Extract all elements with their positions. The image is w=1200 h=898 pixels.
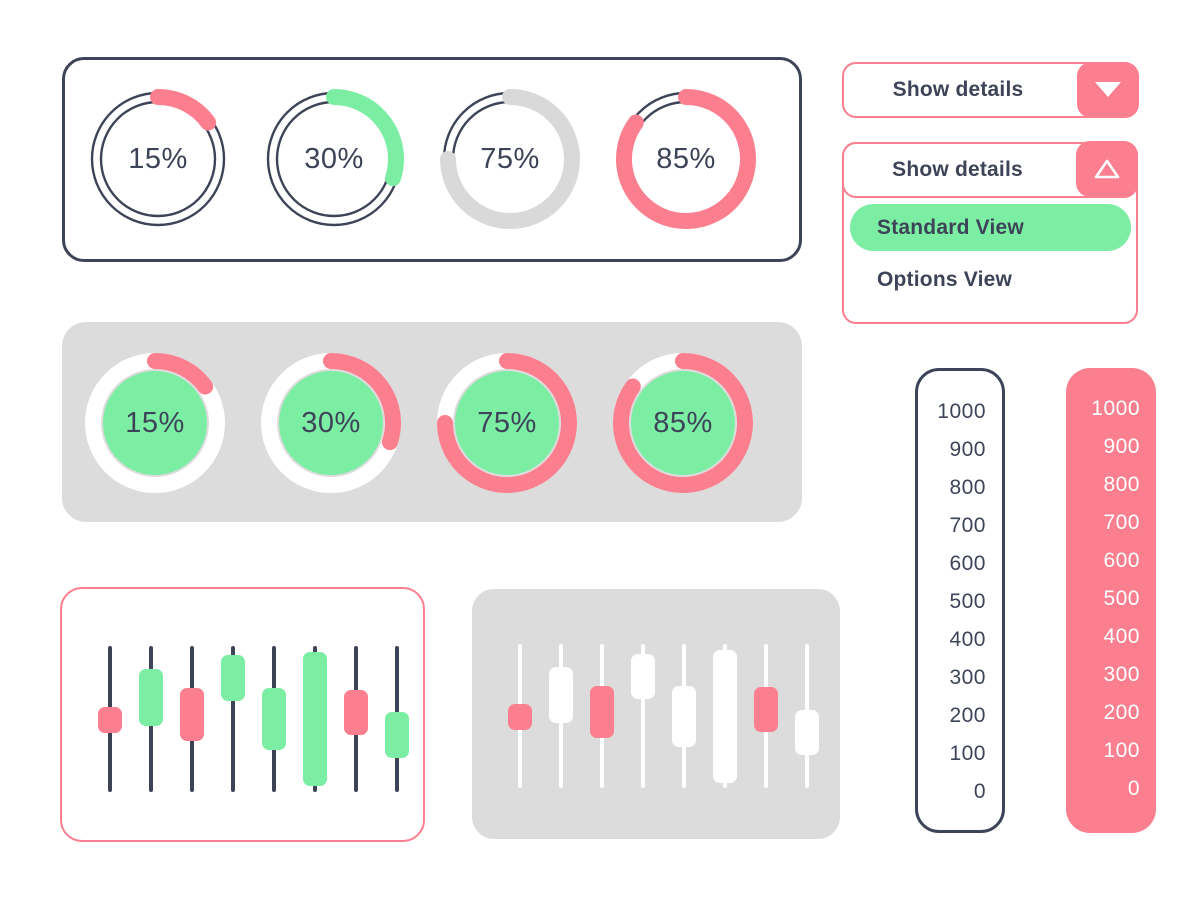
candle-body [795, 710, 819, 755]
candlestick-chart-outline [60, 587, 425, 842]
scale-tick-label: 300 [1066, 656, 1140, 694]
dropdown-show-details-collapsed[interactable]: Show details [842, 62, 1138, 118]
gauge-value-label: 85% [611, 84, 761, 234]
ring-gauge-panel-outline: 15% 30% 75% 85% [62, 57, 802, 262]
dropdown-label: Show details [844, 64, 1072, 116]
scale-tick-label: 500 [918, 583, 986, 621]
scale-tick-label: 400 [1066, 618, 1140, 656]
ring-gauge: 85% [611, 84, 761, 234]
scale-tick-list: 10009008007006005004003002001000 [918, 393, 986, 811]
scale-tick-label: 900 [1066, 428, 1140, 466]
dropdown-toggle-button[interactable] [1077, 62, 1139, 118]
scale-tick-label: 800 [918, 469, 986, 507]
scale-tick-label: 600 [1066, 542, 1140, 580]
gauge-value-label: 15% [83, 84, 233, 234]
ring-gauge: 30% [256, 348, 406, 498]
candle-body [590, 686, 614, 738]
ring-gauge: 85% [608, 348, 758, 498]
dropdown-option-standard-view[interactable]: Standard View [850, 204, 1131, 251]
ring-gauge: 75% [432, 348, 582, 498]
scale-tick-label: 200 [1066, 694, 1140, 732]
candle-body [631, 654, 655, 699]
dropdown-show-details-expanded[interactable]: Standard View Options View Show details [842, 142, 1138, 324]
gauge-value-label: 15% [80, 348, 230, 498]
scale-tick-label: 100 [918, 735, 986, 773]
scale-tick-label: 0 [1066, 770, 1140, 808]
candle-body [385, 712, 409, 758]
candle-body [221, 655, 245, 701]
candle-body [713, 650, 737, 783]
dropdown-label: Show details [844, 144, 1072, 196]
candle-body [303, 652, 327, 787]
scale-tick-label: 600 [918, 545, 986, 583]
candle-body [344, 690, 368, 736]
gauge-value-label: 30% [256, 348, 406, 498]
ring-gauge: 75% [435, 84, 585, 234]
scale-tick-label: 0 [918, 773, 986, 811]
scale-tick-label: 500 [1066, 580, 1140, 618]
dropdown-expanded-header[interactable]: Show details [842, 142, 1138, 198]
candle-body [754, 687, 778, 732]
gauge-value-label: 30% [259, 84, 409, 234]
numeric-scale-filled[interactable]: 10009008007006005004003002001000 [1066, 368, 1156, 833]
gauge-value-label: 75% [432, 348, 582, 498]
scale-tick-list: 10009008007006005004003002001000 [1066, 390, 1140, 808]
gauge-value-label: 75% [435, 84, 585, 234]
scale-tick-label: 300 [918, 659, 986, 697]
scale-tick-label: 100 [1066, 732, 1140, 770]
ring-gauge: 15% [80, 348, 230, 498]
ui-kit-canvas: 15% 30% 75% 85% 15% 30% [0, 0, 1200, 898]
chevron-up-icon [1093, 158, 1121, 180]
numeric-scale-outline[interactable]: 10009008007006005004003002001000 [915, 368, 1005, 833]
candle-body [549, 667, 573, 723]
scale-tick-label: 400 [918, 621, 986, 659]
candle-body [180, 688, 204, 741]
ring-gauge: 30% [259, 84, 409, 234]
candle-body [508, 704, 532, 730]
dropdown-option-options-view[interactable]: Options View [850, 256, 1131, 303]
gauge-value-label: 85% [608, 348, 758, 498]
candle-body [672, 686, 696, 748]
ring-gauge: 15% [83, 84, 233, 234]
scale-tick-label: 700 [918, 507, 986, 545]
scale-tick-label: 1000 [918, 393, 986, 431]
scale-tick-label: 1000 [1066, 390, 1140, 428]
dropdown-toggle-button[interactable] [1076, 141, 1138, 197]
scale-tick-label: 700 [1066, 504, 1140, 542]
candle-body [262, 688, 286, 751]
scale-tick-label: 200 [918, 697, 986, 735]
candle-body [139, 669, 163, 726]
chevron-down-icon [1095, 82, 1121, 97]
candle-body [98, 707, 122, 734]
ring-gauge-panel-filled: 15% 30% 75% 85% [62, 322, 802, 522]
scale-tick-label: 900 [918, 431, 986, 469]
candlestick-chart-grey [472, 589, 840, 839]
scale-tick-label: 800 [1066, 466, 1140, 504]
